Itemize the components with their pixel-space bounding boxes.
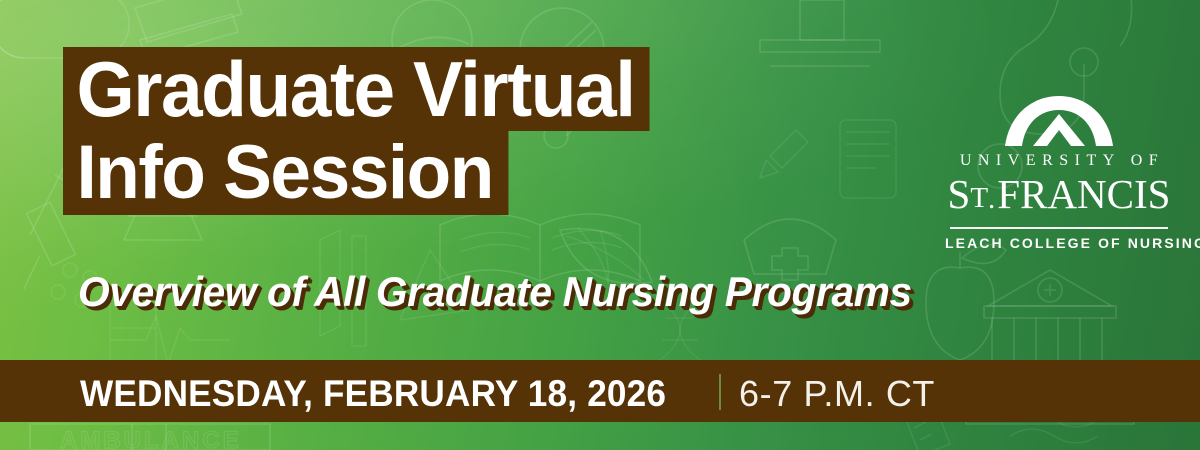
event-time: 6-7 P.M. CT <box>739 376 935 412</box>
logo-university-text: UNIVERSITY OF <box>945 152 1173 170</box>
logo-name-text: ST.FRANCIS <box>945 172 1173 221</box>
university-logo: UNIVERSITY OF ST.FRANCIS LEACH COLLEGE O… <box>945 96 1173 251</box>
title-line-2: Info Session <box>63 131 508 215</box>
banner-title: Graduate Virtual Info Session <box>63 47 674 215</box>
arch-icon <box>1005 96 1113 146</box>
date-time-separator <box>719 374 721 410</box>
event-date-bar: WEDNESDAY, FEBRUARY 18, 2026 6-7 P.M. CT <box>0 360 1200 422</box>
title-line-1: Graduate Virtual <box>63 47 650 131</box>
logo-name-s: S <box>948 171 971 217</box>
event-banner: AMBULANCE <box>0 0 1200 450</box>
banner-subtitle: Overview of All Graduate Nursing Program… <box>78 268 912 316</box>
logo-college-text: LEACH COLLEGE OF NURSING <box>945 235 1173 251</box>
logo-name-dot: . <box>988 183 997 215</box>
logo-name-rest: FRANCIS <box>997 171 1170 217</box>
logo-name-t: T <box>970 182 988 214</box>
event-date: WEDNESDAY, FEBRUARY 18, 2026 <box>80 375 666 412</box>
logo-divider <box>950 227 1168 229</box>
date-bar-content: WEDNESDAY, FEBRUARY 18, 2026 6-7 P.M. CT <box>80 370 935 412</box>
